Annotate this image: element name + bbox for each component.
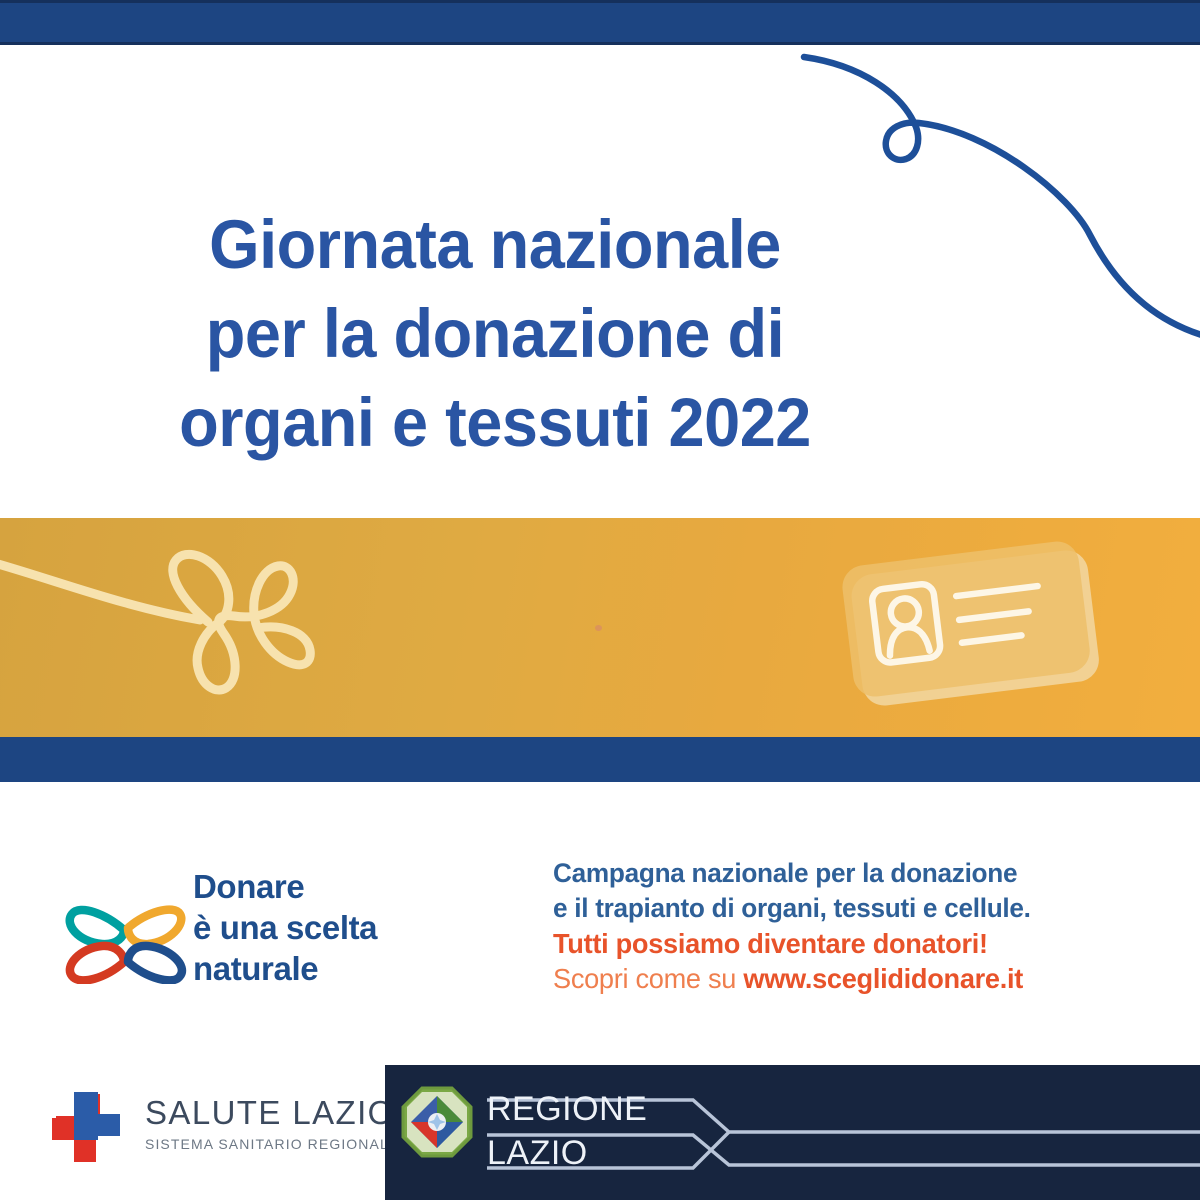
poster-canvas: Giornata nazionale per la donazione di o… — [0, 0, 1200, 1200]
campaign-line-3: Tutti possiamo diventare donatori! — [553, 926, 1096, 961]
title-line-2: per la donazione di — [30, 289, 961, 378]
donare-line-3: naturale — [193, 948, 377, 989]
salute-lazio-wordmark: SALUTE LAZIO SISTEMA SANITARIO REGIONALE — [145, 1095, 399, 1154]
campaign-line-4-prefix: Scopri come su — [553, 963, 743, 994]
poster-title: Giornata nazionale per la donazione di o… — [0, 200, 990, 467]
donor-id-card-icon — [830, 538, 1120, 713]
campaign-line-2: e il trapianto di organi, tessuti e cell… — [553, 891, 1096, 926]
donare-wordmark: Donare è una scelta naturale — [193, 866, 377, 989]
donare-line-2: è una scelta — [193, 907, 377, 948]
medical-cross-logo — [48, 1086, 134, 1172]
salute-lazio-subtitle: SISTEMA SANITARIO REGIONALE — [145, 1134, 399, 1154]
regione-line-2: LAZIO — [487, 1131, 647, 1175]
campaign-text-block: Campagna nazionale per la donazione e il… — [553, 856, 1113, 996]
campaign-website-link[interactable]: www.sceglididonare.it — [743, 963, 1023, 994]
blue-divider-strip — [0, 737, 1200, 782]
regione-lazio-panel: REGIONE LAZIO — [385, 1065, 1200, 1200]
donare-four-petal-logo — [62, 874, 192, 984]
salute-lazio-logo: SALUTE LAZIO SISTEMA SANITARIO REGIONALE — [48, 1078, 358, 1174]
campaign-line-1: Campagna nazionale per la donazione — [553, 856, 1096, 891]
top-blue-bar — [0, 0, 1200, 45]
print-speck — [595, 625, 602, 631]
title-line-3: organi e tessuti 2022 — [30, 378, 961, 467]
hero-section: Giornata nazionale per la donazione di o… — [0, 45, 1200, 518]
title-line-1: Giornata nazionale — [30, 200, 961, 289]
donare-line-1: Donare — [193, 866, 377, 907]
footer-section: SALUTE LAZIO SISTEMA SANITARIO REGIONALE — [0, 1065, 1200, 1200]
regione-lazio-wordmark: REGIONE LAZIO — [487, 1087, 647, 1175]
ribbon-bow-icon — [0, 528, 330, 708]
salute-lazio-title: SALUTE LAZIO — [145, 1095, 399, 1131]
campaign-line-4: Scopri come su www.sceglididonare.it — [553, 961, 1096, 996]
regione-line-1: REGIONE — [487, 1087, 647, 1131]
regione-lazio-emblem — [401, 1086, 473, 1158]
campaign-section: Donare è una scelta naturale Campagna na… — [0, 782, 1200, 1065]
